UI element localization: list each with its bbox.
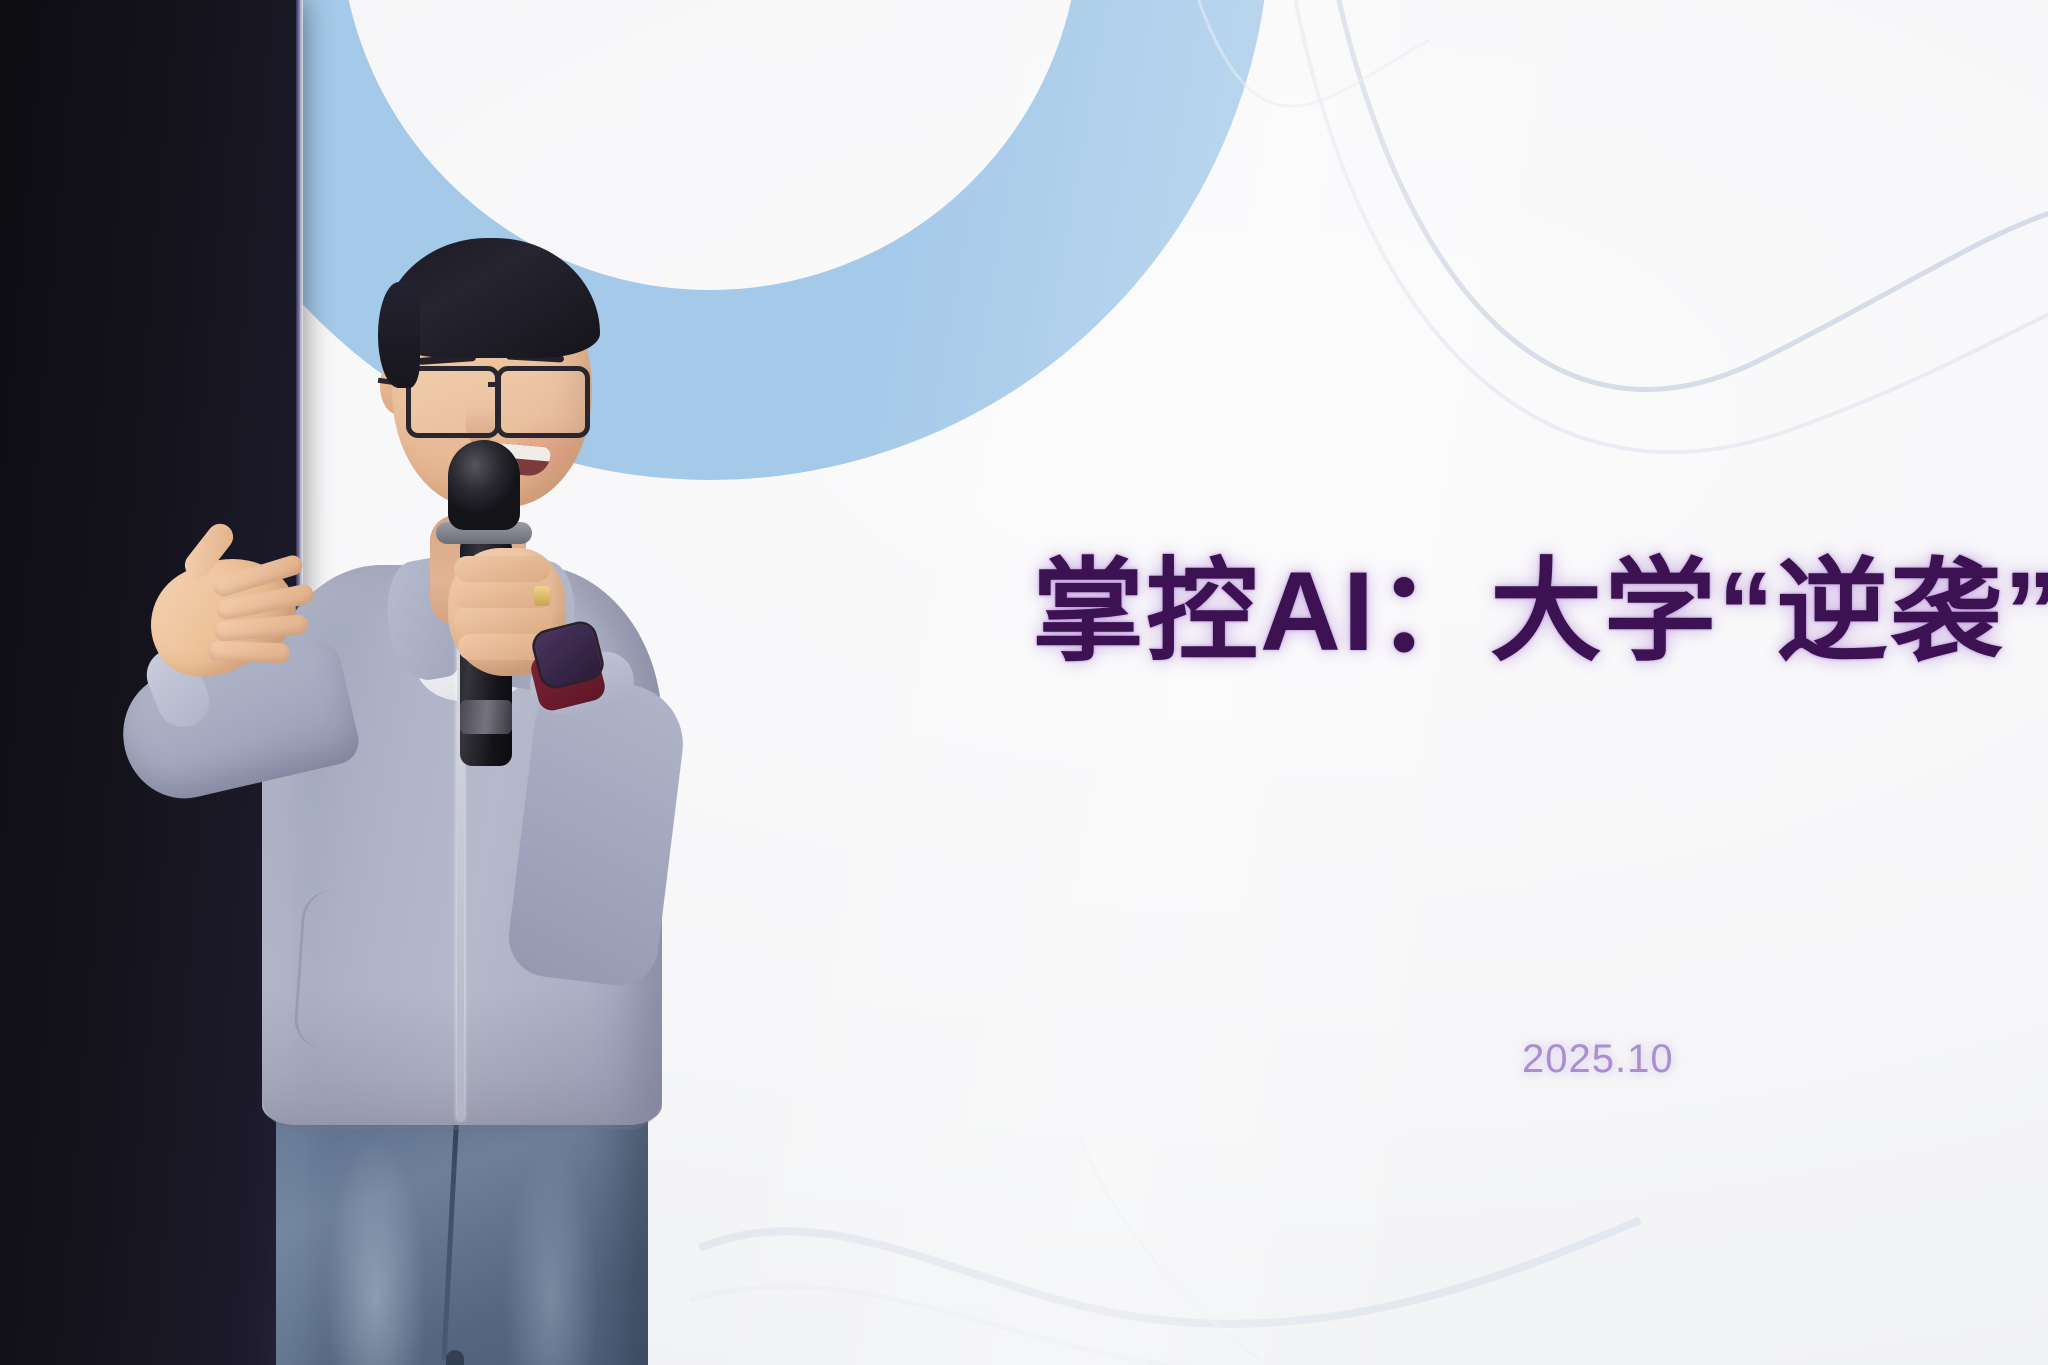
jeans-leg-gap <box>446 1350 464 1365</box>
eyeglasses-lens-left <box>406 366 500 438</box>
microphone-grille-head <box>448 440 520 530</box>
right-finger-3 <box>454 608 552 634</box>
presenter <box>130 230 770 1365</box>
right-finger-1 <box>454 556 550 582</box>
slide-date: 2025.10 <box>1522 1037 1674 1082</box>
microphone-lower-band <box>460 700 512 734</box>
left-finger-4 <box>208 641 291 664</box>
hoodie-pocket <box>292 888 366 1052</box>
jeans-fade-left <box>306 1122 446 1365</box>
finger-ring <box>534 586 550 606</box>
jeans-fade-right <box>486 1130 616 1365</box>
screenshot-root: 掌控AI：大学“逆袭”指南 2025.10 <box>0 0 2048 1365</box>
slide-title: 掌控AI：大学“逆袭”指南 <box>1032 552 2048 673</box>
eyeglasses-bridge <box>488 382 500 387</box>
eyeglasses-lens-right <box>496 366 590 438</box>
hair-sideburn <box>378 282 420 388</box>
